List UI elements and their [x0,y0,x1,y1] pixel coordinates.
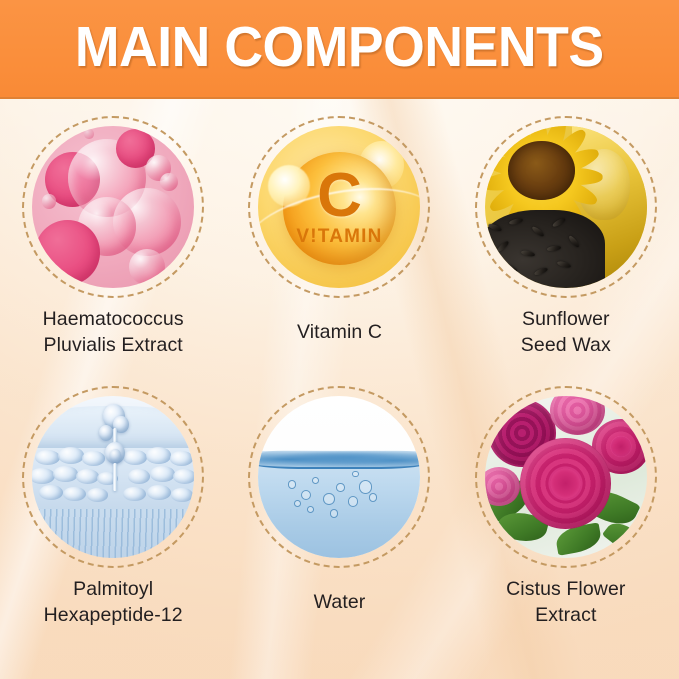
dashed-ring-cistus-flower [475,386,657,568]
component-label-water: Water [314,576,366,615]
component-cell-cistus-flower-extract [453,382,679,572]
component-cell-sunflower-seed-wax [453,112,679,302]
label-cell-water: Water [226,572,452,652]
label-cell-cistus-flower: Cistus Flower Extract [453,572,679,652]
component-label-palmitoyl-hexapeptide-12: Palmitoyl Hexapeptide-12 [44,576,183,628]
skin-layers-peptide-photo [32,396,194,558]
label-cell-palmitoyl: Palmitoyl Hexapeptide-12 [0,572,226,652]
component-label-cistus-flower-extract: Cistus Flower Extract [506,576,625,628]
water-surface-photo [258,396,420,558]
dashed-ring-haematococcus [22,116,204,298]
component-cell-palmitoyl-hexapeptide-12 [0,382,226,572]
vitamin-c-droplet-photo: C V!TAMIN [258,126,420,288]
pink-roses-photo [485,396,647,558]
component-label-haematococcus-pluvialis-extract: Haematococcus Pluvialis Extract [43,306,184,358]
pink-bubbles-photo [32,126,194,288]
page-title: MAIN COMPONENTS [75,19,604,79]
sunflower-seeds-oil-photo [485,126,647,288]
header-banner: MAIN COMPONENTS [0,0,679,97]
dashed-ring-vitamin-c: C V!TAMIN [248,116,430,298]
component-label-sunflower-seed-wax: Sunflower Seed Wax [521,306,611,358]
component-label-vitamin-c: Vitamin C [297,306,382,345]
components-grid: C V!TAMIN [0,112,679,652]
main-components-infographic: MAIN COMPONENTS [0,0,679,679]
dashed-ring-palmitoyl [22,386,204,568]
component-cell-vitamin-c: C V!TAMIN [226,112,452,302]
component-cell-haematococcus-pluvialis-extract [0,112,226,302]
vitamin-c-caption: V!TAMIN [258,226,420,248]
label-cell-sunflower: Sunflower Seed Wax [453,302,679,382]
component-cell-water [226,382,452,572]
label-cell-vitamin-c: Vitamin C [226,302,452,382]
dashed-ring-sunflower [475,116,657,298]
dashed-ring-water [248,386,430,568]
vitamin-c-letter: C [258,165,420,227]
label-cell-haematococcus: Haematococcus Pluvialis Extract [0,302,226,382]
